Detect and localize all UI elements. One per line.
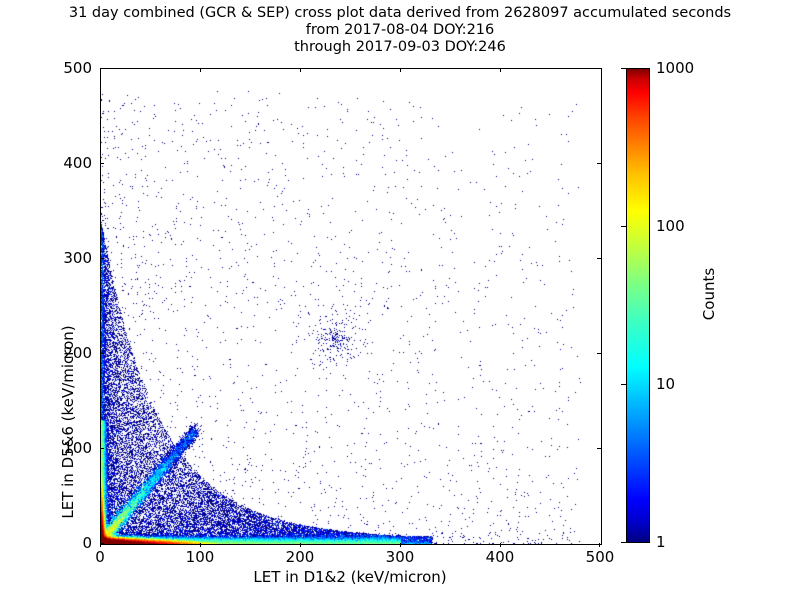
title-line-1: 31 day combined (GCR & SEP) cross plot d… — [0, 5, 800, 22]
xtick-top-400 — [500, 68, 501, 72]
colorbar-tick-1000 — [621, 68, 626, 69]
xtick-500 — [599, 543, 600, 547]
ytick-100 — [100, 448, 104, 449]
xtick-200 — [300, 543, 301, 547]
colorbar-axis-label: Counts — [700, 244, 718, 344]
ytick-400 — [100, 163, 104, 164]
colorbar-ticklabel-10: 10 — [656, 375, 675, 393]
colorbar-ticklabel-1: 1 — [656, 533, 666, 551]
ytick-right-400 — [597, 163, 601, 164]
xticklabel-500: 500 — [565, 548, 635, 566]
colorbar-tick-10 — [621, 384, 626, 385]
ytick-right-200 — [597, 353, 601, 354]
xtick-top-100 — [200, 68, 201, 72]
xtick-400 — [500, 543, 501, 547]
yticklabel-500: 500 — [0, 59, 92, 77]
colorbar-tick-1 — [621, 542, 626, 543]
yticklabel-0: 0 — [0, 534, 92, 552]
ytick-right-300 — [597, 258, 601, 259]
xticklabel-200: 200 — [265, 548, 335, 566]
yticklabel-400: 400 — [0, 154, 92, 172]
ytick-0 — [100, 543, 104, 544]
colorbar-gradient — [626, 68, 650, 543]
yticklabel-100: 100 — [0, 439, 92, 457]
xtick-300 — [400, 543, 401, 547]
xtick-100 — [200, 543, 201, 547]
colorbar-ticklabel-100: 100 — [656, 217, 685, 235]
xticklabel-400: 400 — [465, 548, 535, 566]
ytick-200 — [100, 353, 104, 354]
x-axis-label: LET in D1&2 (keV/micron) — [100, 568, 600, 586]
ytick-500 — [100, 68, 104, 69]
colorbar-container[interactable]: 1 10 100 1000 — [626, 68, 650, 543]
chart-title: 31 day combined (GCR & SEP) cross plot d… — [0, 5, 800, 56]
xtick-top-300 — [400, 68, 401, 72]
title-line-2: from 2017-08-04 DOY:216 — [0, 22, 800, 39]
title-line-3: through 2017-09-03 DOY:246 — [0, 39, 800, 56]
colorbar-ticklabel-1000: 1000 — [656, 59, 694, 77]
scatter-plot-area[interactable] — [100, 68, 602, 545]
y-axis-label: LET in D5&6 (keV/micron) — [59, 292, 77, 552]
xtick-top-200 — [300, 68, 301, 72]
colorbar-tick-100 — [621, 226, 626, 227]
colorbar-label-container: Counts — [694, 245, 724, 345]
xticklabel-100: 100 — [165, 548, 235, 566]
figure-canvas: 31 day combined (GCR & SEP) cross plot d… — [0, 0, 800, 600]
scatter-density-canvas — [101, 69, 601, 544]
ytick-right-100 — [597, 448, 601, 449]
y-axis-label-container: LET in D5&6 (keV/micron) — [14, 175, 44, 435]
ytick-300 — [100, 258, 104, 259]
xticklabel-300: 300 — [365, 548, 435, 566]
